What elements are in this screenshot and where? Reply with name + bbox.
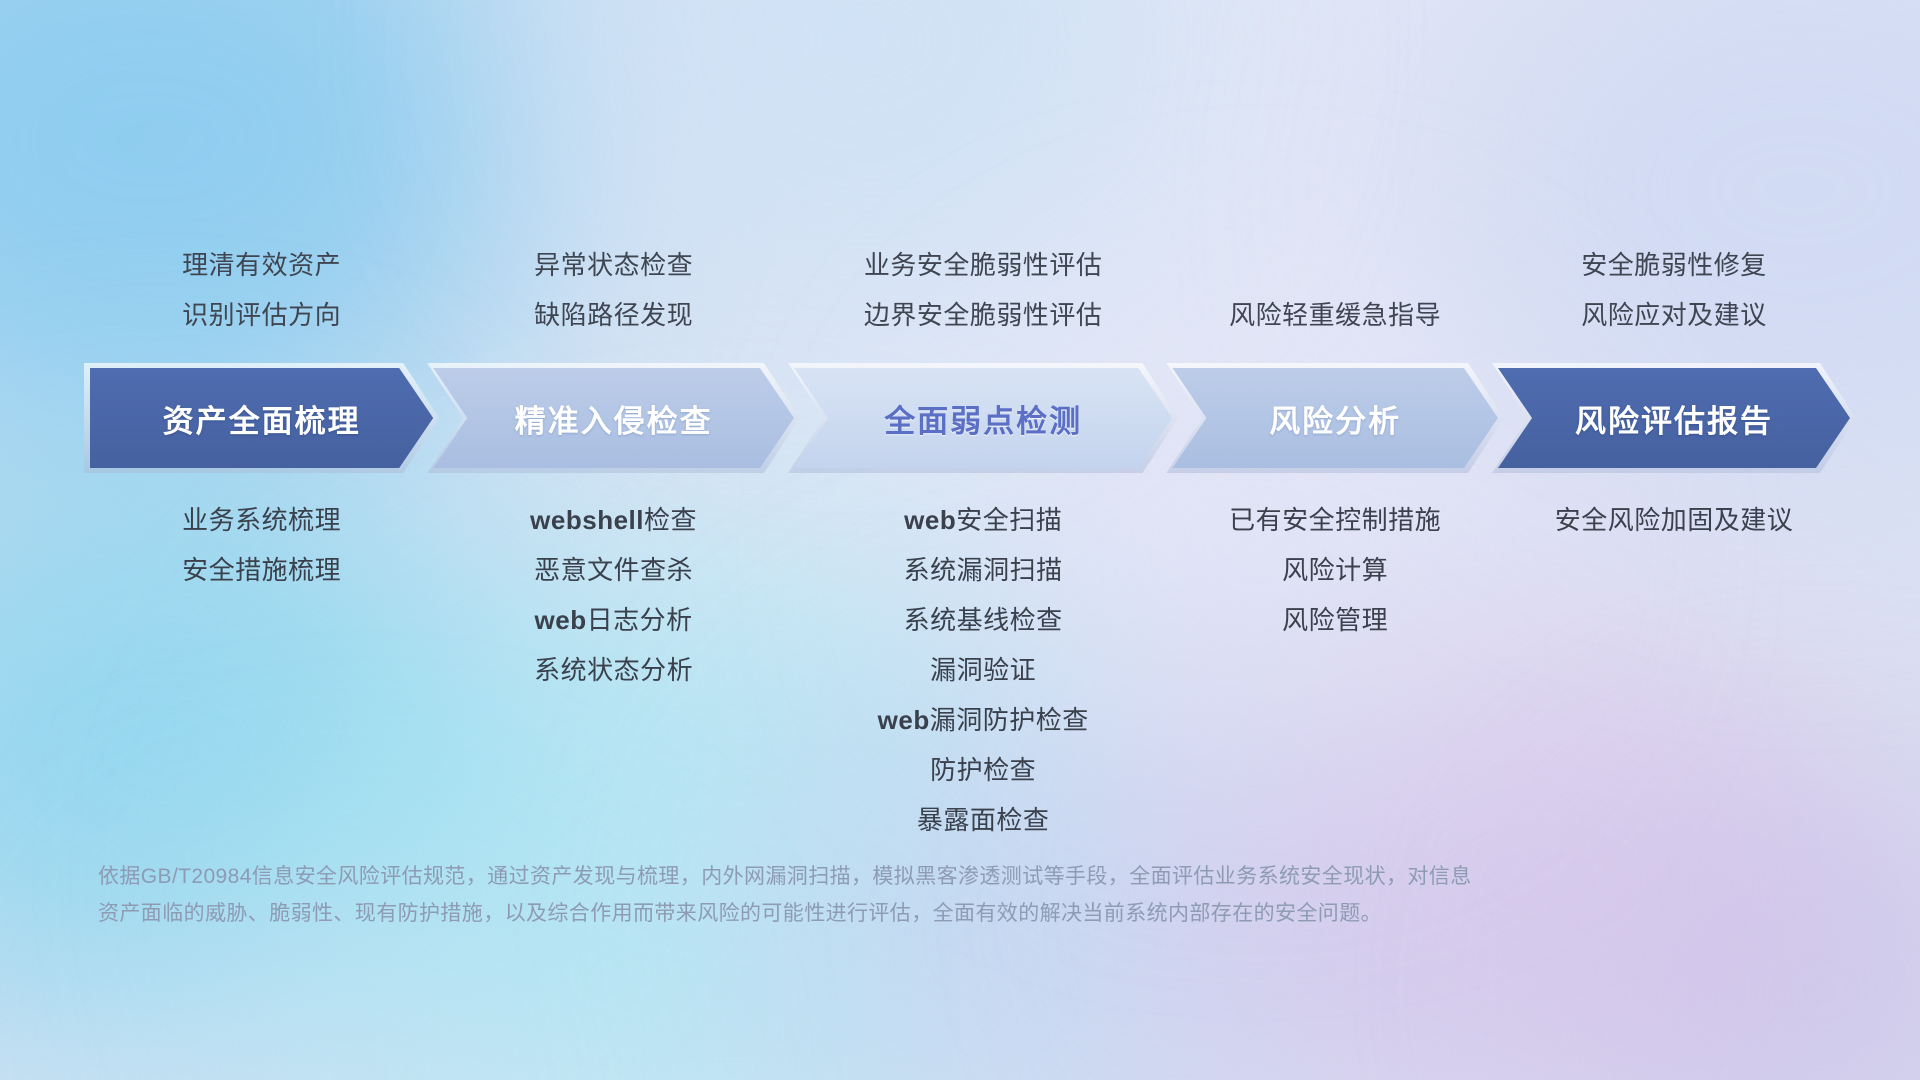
footer-line-1: 依据GB/T20984信息安全风险评估规范，通过资产发现与梳理，内外网漏洞扫描，… — [98, 858, 1818, 895]
footer-description: 依据GB/T20984信息安全风险评估规范，通过资产发现与梳理，内外网漏洞扫描，… — [98, 858, 1818, 932]
stage-label-weakness-detection: 全面弱点检测 — [884, 396, 1082, 441]
process-stage-intrusion-check[interactable]: 精准入侵检查 — [433, 368, 794, 468]
process-arrow-band: 资产全面梳理精准入侵检查全面弱点检测风险分析风险评估报告 — [90, 368, 1850, 468]
bottom-item: 风险计算 — [1035, 545, 1635, 595]
top-outcomes-risk-report: 安全脆弱性修复风险应对及建议 — [1374, 240, 1920, 340]
top-item: 业务安全脆弱性评估 — [683, 240, 1283, 290]
top-outcomes-band: 理清有效资产识别评估方向异常状态检查缺陷路径发现业务安全脆弱性评估边界安全脆弱性… — [0, 210, 1920, 340]
top-item: 安全脆弱性修复 — [1374, 240, 1920, 290]
bottom-activities-risk-report: 安全风险加固及建议 — [1374, 495, 1920, 545]
top-item: 风险应对及建议 — [1374, 290, 1920, 340]
process-stage-risk-report[interactable]: 风险评估报告 — [1498, 368, 1850, 468]
bottom-item: 防护检查 — [683, 745, 1283, 795]
stage-label-asset-review: 资产全面梳理 — [163, 396, 361, 441]
bottom-item: 安全风险加固及建议 — [1374, 495, 1920, 545]
bottom-item: web漏洞防护检查 — [683, 695, 1283, 745]
stage-label-intrusion-check: 精准入侵检查 — [515, 396, 713, 441]
process-stage-asset-review[interactable]: 资产全面梳理 — [90, 368, 433, 468]
bottom-item: 暴露面检查 — [683, 795, 1283, 845]
footer-line-2: 资产面临的威胁、脆弱性、现有防护措施，以及综合作用而带来风险的可能性进行评估，全… — [98, 895, 1818, 932]
stage-label-risk-report: 风险评估报告 — [1575, 396, 1773, 441]
bottom-item: 漏洞验证 — [683, 645, 1283, 695]
stage-label-risk-analysis: 风险分析 — [1269, 396, 1401, 441]
slide-canvas: 理清有效资产识别评估方向异常状态检查缺陷路径发现业务安全脆弱性评估边界安全脆弱性… — [0, 0, 1920, 1080]
process-stage-risk-analysis[interactable]: 风险分析 — [1172, 368, 1498, 468]
bottom-item: 风险管理 — [1035, 595, 1635, 645]
process-stage-weakness-detection[interactable]: 全面弱点检测 — [794, 368, 1172, 468]
